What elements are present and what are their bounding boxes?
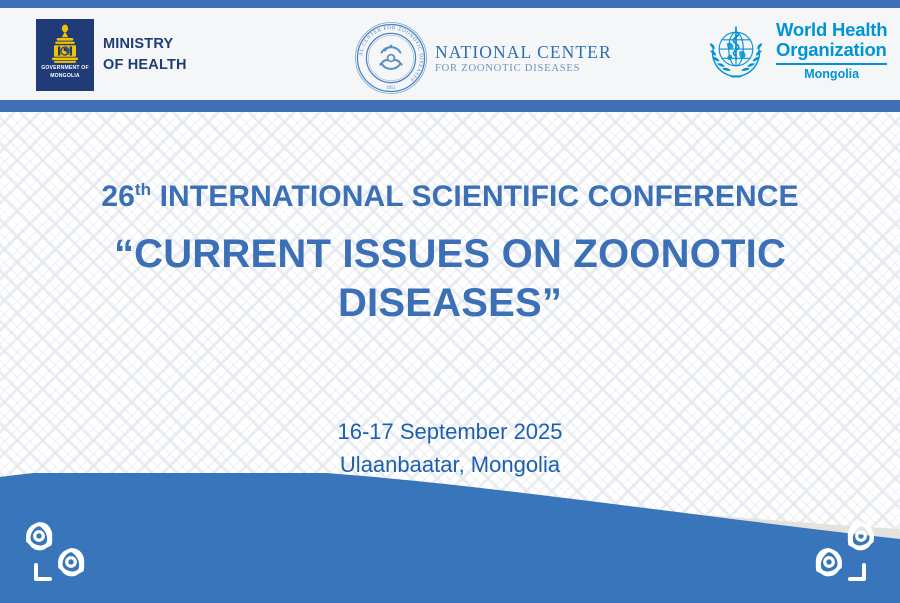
national-center-name: NATIONAL CENTER FOR ZOONOTIC DISEASES [435, 41, 612, 75]
national-center-logo: NATIONAL CENTER FOR ZOONOTIC DISEASES 19… [352, 19, 612, 97]
soyombo-emblem-icon [48, 24, 82, 70]
svg-text:1951: 1951 [386, 86, 396, 91]
header-divider-rule [0, 100, 900, 112]
who-mongolia-logo: World Health Organization Mongolia [703, 20, 887, 82]
ministry-name-line-2: OF HEALTH [103, 55, 187, 76]
government-of-mongolia-crest: GOVERNMENT OF MONGOLIA [36, 19, 94, 91]
who-name-line-2: Organization [776, 41, 887, 60]
mongolian-knot-ornament-left [14, 517, 104, 589]
conference-title-slide: GOVERNMENT OF MONGOLIA MINISTRY OF HEALT… [0, 0, 900, 603]
who-emblem-icon [703, 20, 769, 82]
ministry-of-health-name: MINISTRY OF HEALTH [103, 34, 187, 75]
page-title: “CURRENT ISSUES ON ZOONOTIC DISEASES” [70, 230, 830, 328]
top-accent-rule [0, 0, 900, 8]
conference-edition-line: 26th INTERNATIONAL SCIENTIFIC CONFERENCE [0, 180, 900, 214]
event-date: 16-17 September 2025 [0, 415, 900, 448]
conference-edition-text: INTERNATIONAL SCIENTIFIC CONFERENCE [151, 180, 799, 213]
ncz-name-line-2: FOR ZOONOTIC DISEASES [435, 64, 612, 75]
ncz-name-line-1: NATIONAL CENTER [435, 44, 612, 62]
who-country-label: Mongolia [776, 68, 887, 81]
who-separator-rule [776, 63, 887, 65]
svg-text:NATIONAL CENTER FOR ZOONOTIC D: NATIONAL CENTER FOR ZOONOTIC DISEASES [352, 19, 424, 83]
crest-caption: GOVERNMENT OF MONGOLIA [36, 65, 94, 80]
page-title-line-2: DISEASES” [70, 279, 830, 328]
mongolian-knot-ornament-right [796, 517, 886, 589]
zoonotic-seal-icon: NATIONAL CENTER FOR ZOONOTIC DISEASES 19… [352, 19, 430, 97]
ministry-of-health-logo: GOVERNMENT OF MONGOLIA MINISTRY OF HEALT… [36, 19, 187, 91]
ministry-name-line-1: MINISTRY [103, 34, 187, 55]
who-name-block: World Health Organization Mongolia [776, 21, 887, 81]
footer-wave-decoration [0, 473, 900, 603]
footer-wave-blue [0, 473, 900, 603]
who-name-line-1: World Health [776, 21, 887, 40]
page-title-line-1: “CURRENT ISSUES ON ZOONOTIC [70, 230, 830, 279]
conference-number-suffix: th [135, 180, 151, 199]
event-details: 16-17 September 2025 Ulaanbaatar, Mongol… [0, 415, 900, 481]
conference-number: 26 [101, 180, 135, 213]
